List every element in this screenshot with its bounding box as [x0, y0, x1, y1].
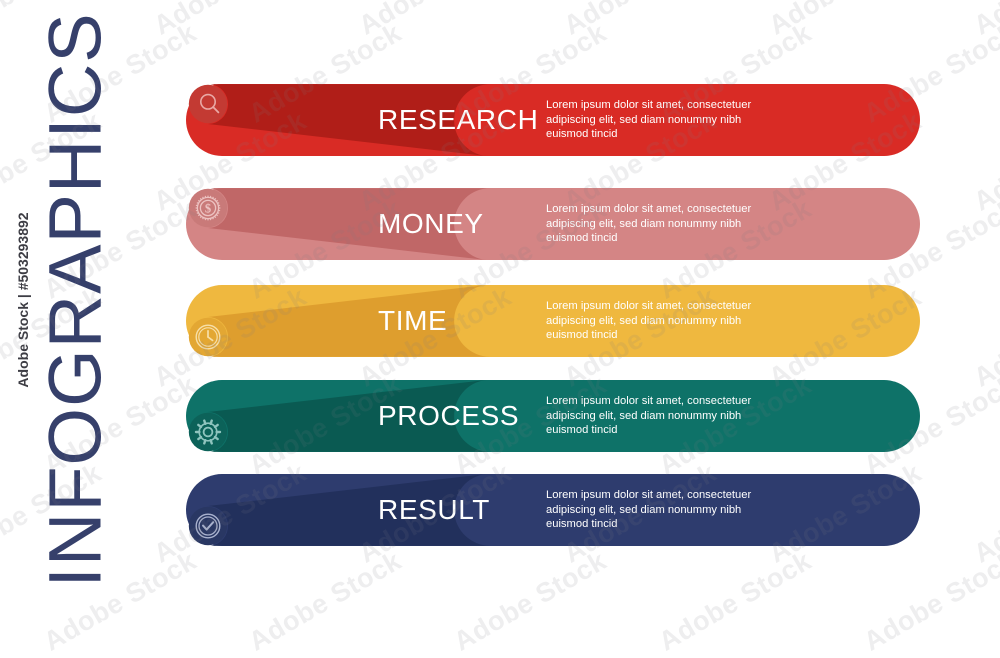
- icon-disc: [189, 507, 227, 545]
- gear-icon[interactable]: [189, 413, 227, 451]
- dollar-coin-icon[interactable]: $: [189, 189, 227, 227]
- stock-credit-text: Adobe Stock | #503293892: [15, 212, 31, 387]
- row-title-result: RESULT: [378, 474, 490, 546]
- infographic-row-research[interactable]: RESEARCHLorem ipsum dolor sit amet, cons…: [186, 84, 920, 156]
- row-body-line: adipiscing elit, sed diam nonummy nibh: [546, 503, 786, 518]
- icon-disc: [189, 413, 227, 451]
- row-body-line: adipiscing elit, sed diam nonummy nibh: [546, 409, 786, 424]
- svg-text:$: $: [205, 201, 211, 215]
- row-body-line: euismod tincid: [546, 423, 786, 438]
- clock-icon[interactable]: [189, 318, 227, 356]
- row-body-line: adipiscing elit, sed diam nonummy nibh: [546, 217, 786, 232]
- stock-credit: Adobe Stock | #503293892: [6, 0, 40, 600]
- infographic-row-money[interactable]: $MONEYLorem ipsum dolor sit amet, consec…: [186, 188, 920, 260]
- row-body-result: Lorem ipsum dolor sit amet, consectetuer…: [546, 474, 786, 546]
- infographic-rows: RESEARCHLorem ipsum dolor sit amet, cons…: [0, 0, 1000, 600]
- row-body-research: Lorem ipsum dolor sit amet, consectetuer…: [546, 84, 786, 156]
- row-body-line: euismod tincid: [546, 328, 786, 343]
- infographic-row-result[interactable]: RESULTLorem ipsum dolor sit amet, consec…: [186, 474, 920, 546]
- infographic-row-time[interactable]: TIMELorem ipsum dolor sit amet, consecte…: [186, 285, 920, 357]
- row-body-line: adipiscing elit, sed diam nonummy nibh: [546, 314, 786, 329]
- row-body-line: Lorem ipsum dolor sit amet, consectetuer: [546, 299, 786, 314]
- row-body-line: Lorem ipsum dolor sit amet, consectetuer: [546, 98, 786, 113]
- row-body-line: Lorem ipsum dolor sit amet, consectetuer: [546, 394, 786, 409]
- magnifier-icon[interactable]: [189, 85, 227, 123]
- check-circle-icon[interactable]: [189, 507, 227, 545]
- icon-disc: [189, 85, 227, 123]
- row-title-research: RESEARCH: [378, 84, 538, 156]
- row-body-line: Lorem ipsum dolor sit amet, consectetuer: [546, 488, 786, 503]
- row-body-line: adipiscing elit, sed diam nonummy nibh: [546, 113, 786, 128]
- row-title-process: PROCESS: [378, 380, 519, 452]
- row-title-time: TIME: [378, 285, 447, 357]
- infographic-row-process[interactable]: PROCESSLorem ipsum dolor sit amet, conse…: [186, 380, 920, 452]
- row-body-process: Lorem ipsum dolor sit amet, consectetuer…: [546, 380, 786, 452]
- row-body-line: euismod tincid: [546, 517, 786, 532]
- row-body-line: euismod tincid: [546, 127, 786, 142]
- row-title-money: MONEY: [378, 188, 484, 260]
- row-body-time: Lorem ipsum dolor sit amet, consectetuer…: [546, 285, 786, 357]
- page-title-text: INFOGRAPHICS: [33, 12, 118, 587]
- row-body-line: Lorem ipsum dolor sit amet, consectetuer: [546, 202, 786, 217]
- row-body-line: euismod tincid: [546, 231, 786, 246]
- row-body-money: Lorem ipsum dolor sit amet, consectetuer…: [546, 188, 786, 260]
